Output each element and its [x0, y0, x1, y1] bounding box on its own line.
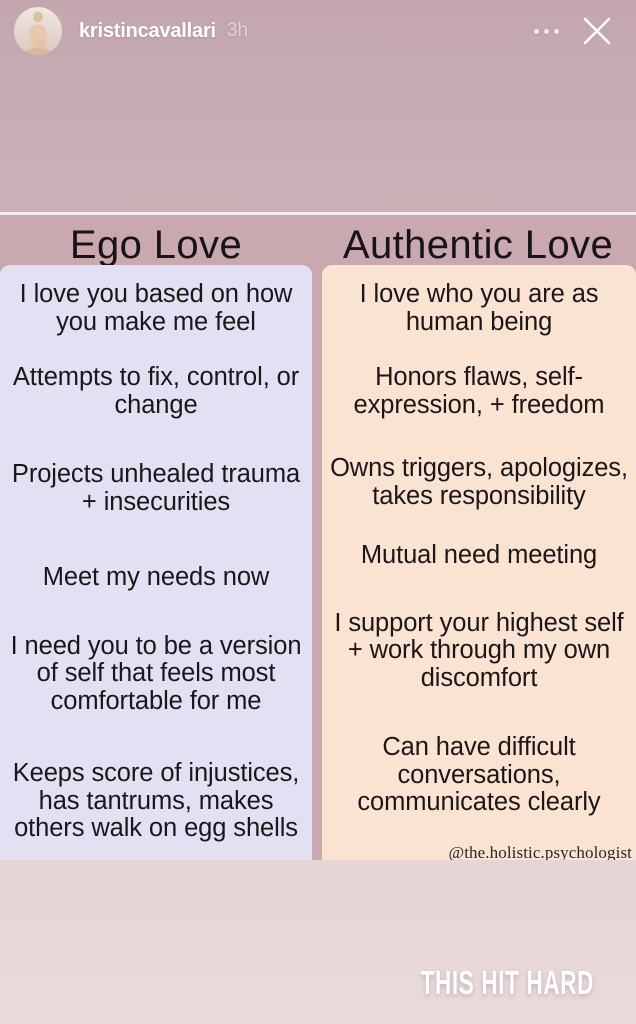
list-item: Attempts to fix, control, or change: [6, 364, 306, 419]
comparison-columns: Ego Love I love you based on how you mak…: [0, 215, 636, 860]
list-item: Owns triggers, apologizes, takes respons…: [328, 455, 630, 510]
list-item: I love who you are as human being: [328, 281, 630, 336]
close-button[interactable]: [574, 8, 620, 54]
column-authentic-love: Authentic Love I love who you are as hum…: [318, 215, 636, 860]
story-caption: THIS HIT HARD: [421, 964, 594, 1002]
profile-photo-icon: [14, 7, 62, 55]
list-item: Meet my needs now: [6, 564, 306, 592]
list-item: Can have difficult conversations, commun…: [328, 734, 630, 817]
instagram-story: kristincavallari 3h Ego Love I love you …: [0, 0, 636, 1024]
attribution-watermark: @the.holistic.psychologist: [448, 843, 632, 860]
more-horizontal-icon-dot: [544, 29, 549, 34]
list-item: I support your highest self + work throu…: [328, 610, 630, 693]
username-label[interactable]: kristincavallari: [79, 20, 216, 43]
card-ego-love: I love you based on how you make me feel…: [0, 265, 312, 860]
list-item: Mutual need meeting: [328, 542, 630, 570]
close-icon: [581, 15, 613, 47]
card-authentic-love: I love who you are as human being Honors…: [322, 265, 636, 860]
more-horizontal-icon-dot: [554, 29, 559, 34]
avatar[interactable]: [14, 7, 62, 55]
more-options-button[interactable]: [526, 11, 566, 51]
list-item: Projects unhealed trauma + insecurities: [6, 461, 306, 516]
list-item: Keeps score of injustices, has tantrums,…: [6, 760, 306, 843]
list-item: Honors flaws, self-expression, + freedom: [328, 364, 630, 419]
story-media-graphic: Ego Love I love you based on how you mak…: [0, 212, 636, 860]
column-heading-ego-love: Ego Love: [0, 215, 318, 263]
column-heading-authentic-love: Authentic Love: [318, 215, 636, 263]
list-item: I need you to be a version of self that …: [6, 633, 306, 716]
column-ego-love: Ego Love I love you based on how you mak…: [0, 215, 318, 860]
more-horizontal-icon-dot: [534, 29, 539, 34]
timestamp-label: 3h: [227, 20, 248, 42]
story-header: kristincavallari 3h: [0, 0, 636, 62]
list-item: I love you based on how you make me feel: [6, 281, 306, 336]
